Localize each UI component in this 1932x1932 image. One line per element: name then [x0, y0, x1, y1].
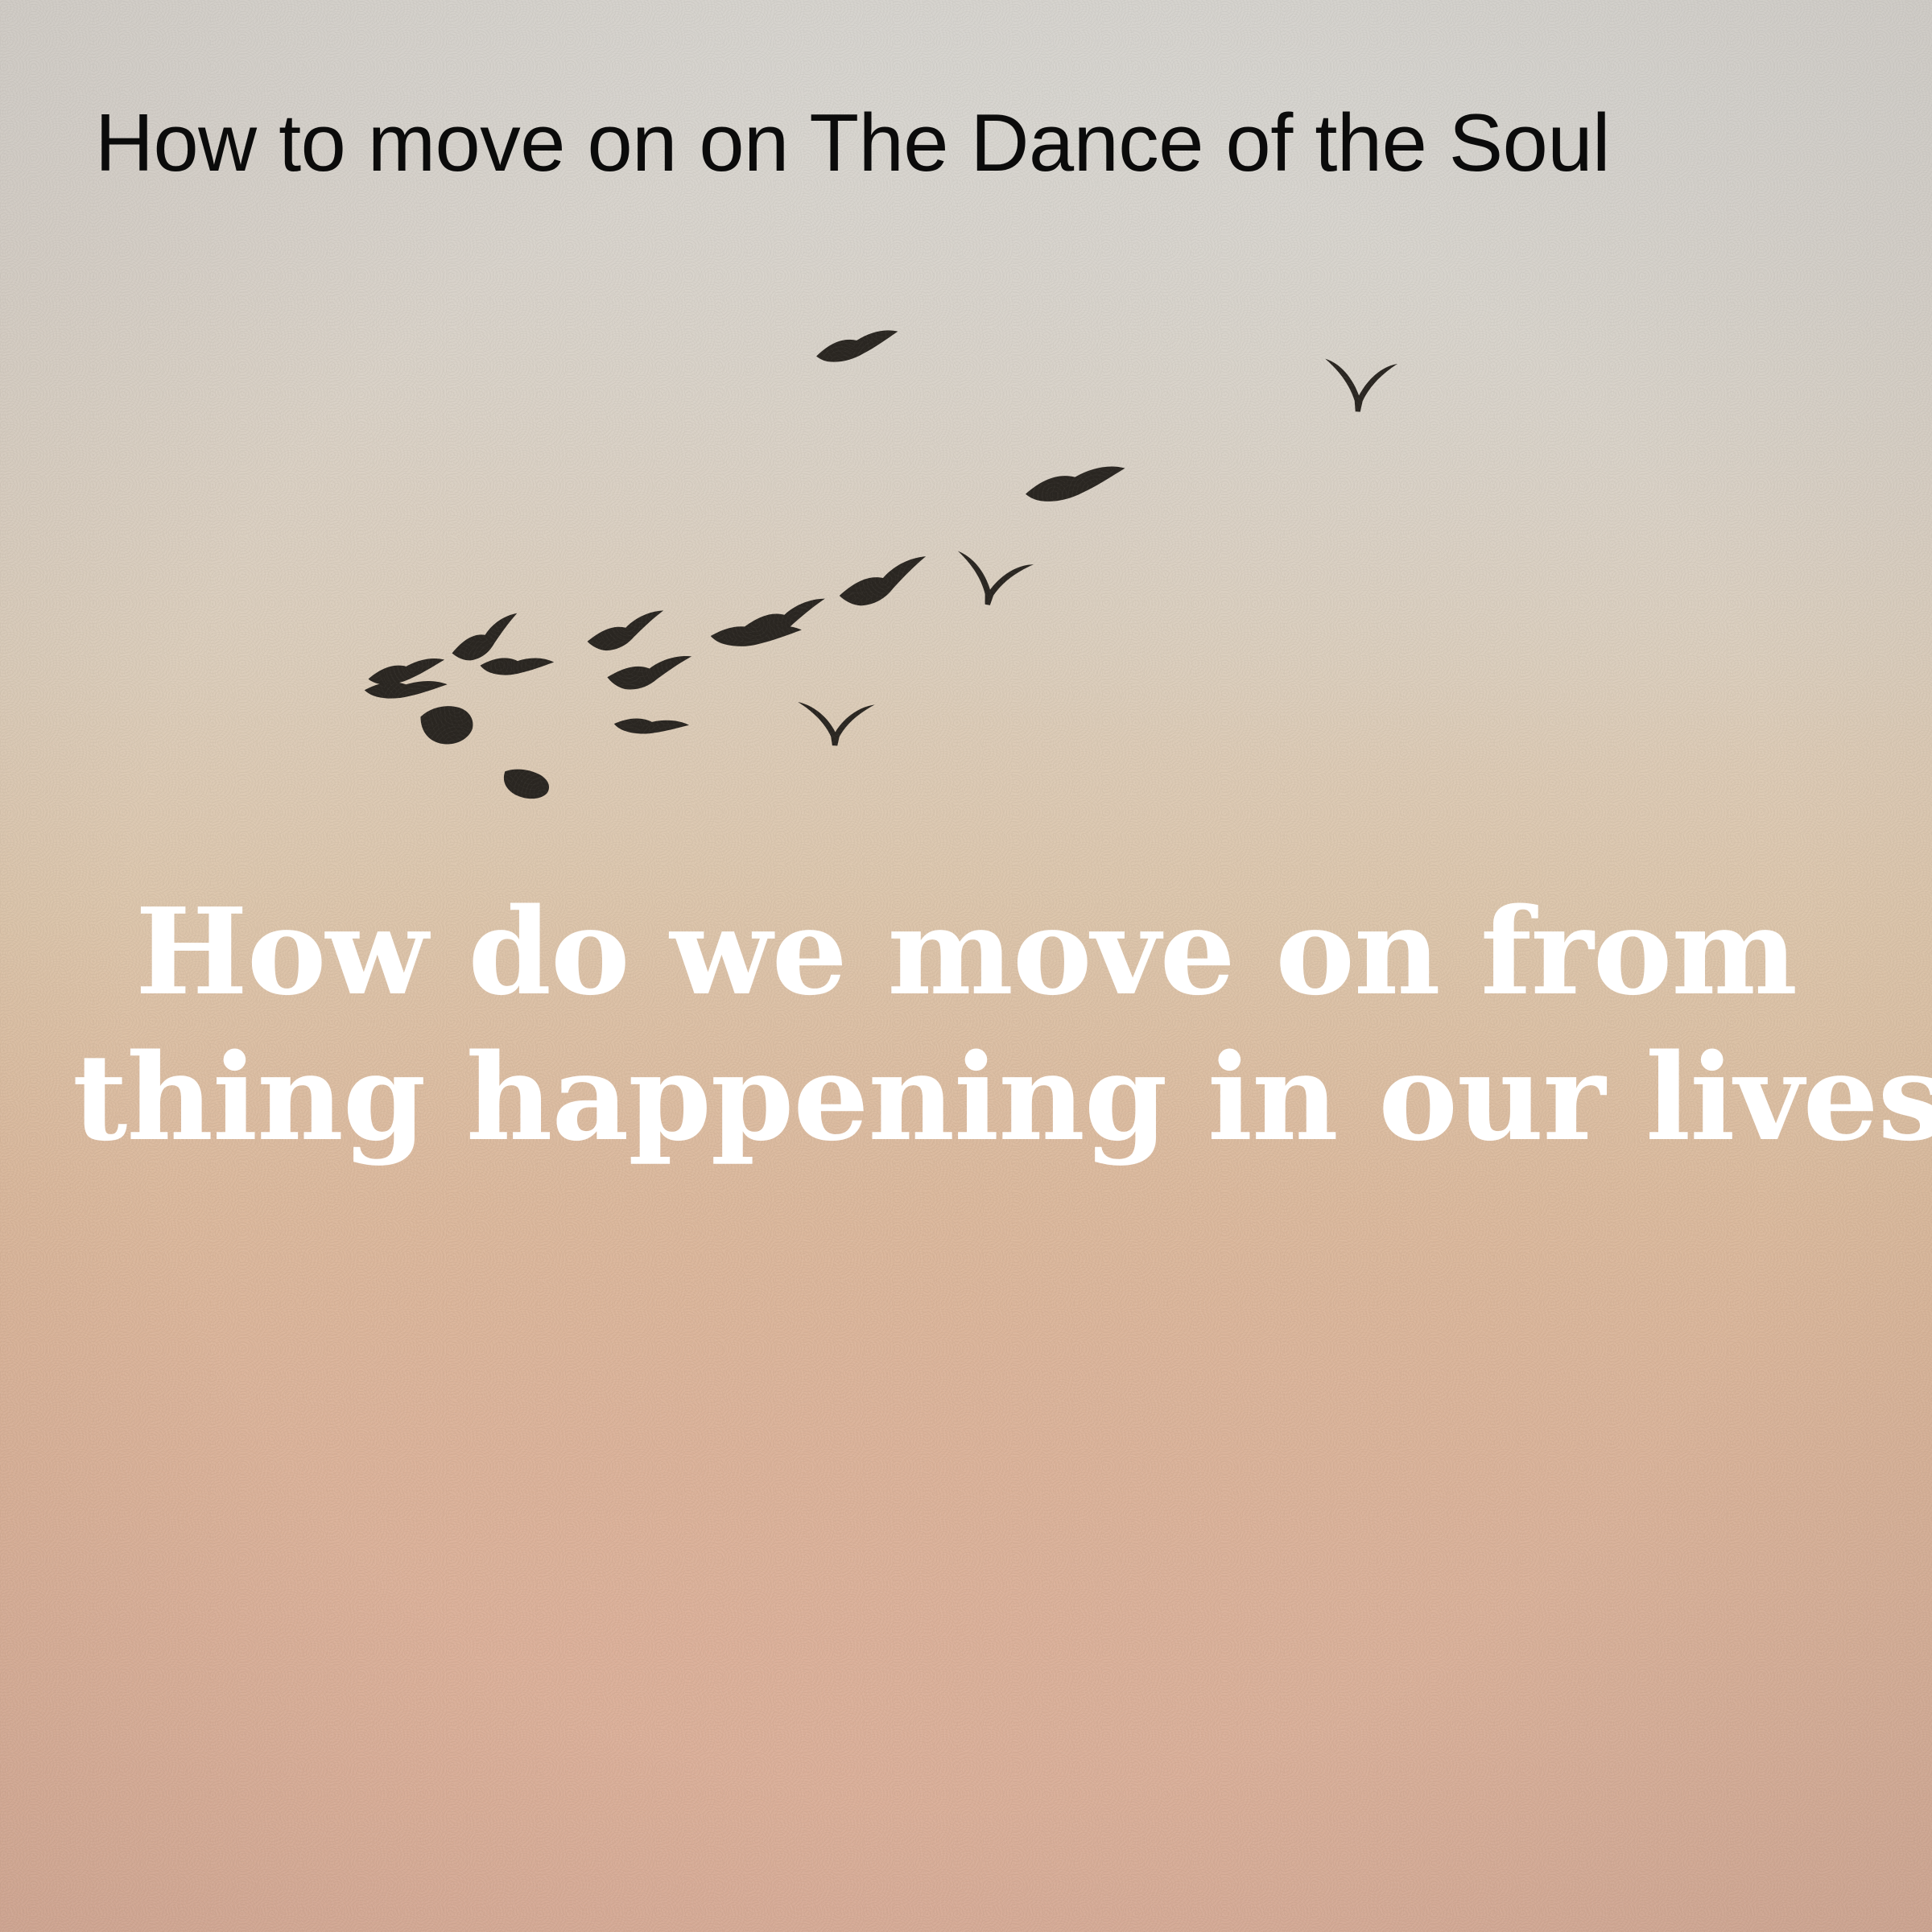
page-title: How to move on on The Dance of the Soul [95, 103, 1610, 184]
headline-line-2: thing happening in our lives? [72, 1025, 1860, 1170]
headline-question: How do we move on from thing happening i… [0, 879, 1932, 1170]
image-canvas: How to move on on The Dance of the Soul … [0, 0, 1932, 1932]
headline-line-1: How do we move on from [72, 879, 1860, 1025]
